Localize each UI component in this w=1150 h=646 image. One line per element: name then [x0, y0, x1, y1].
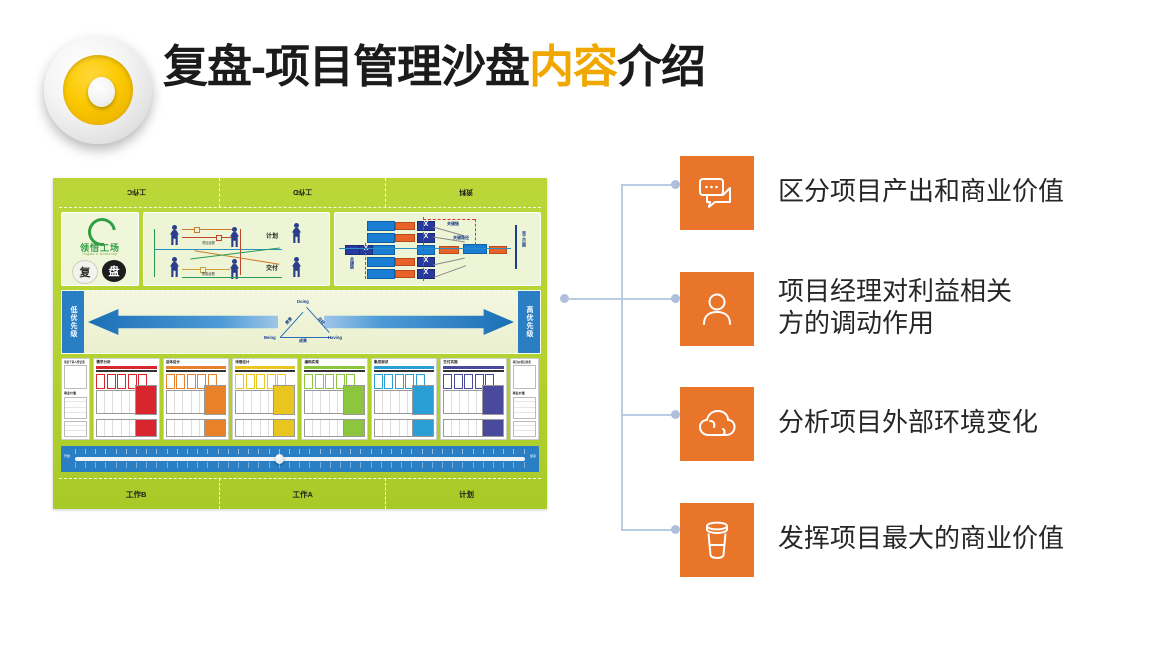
user-icon [680, 272, 754, 346]
board-bottom-label-0: 工作B [126, 489, 146, 500]
network-label-critical-path: 关键路径 [453, 235, 469, 241]
connector-line-spine [621, 184, 623, 530]
cloud-icon [680, 387, 754, 461]
flow-label: 项目经理 [202, 240, 215, 245]
network-node [417, 245, 435, 255]
network-node-x [417, 257, 435, 267]
network-buffer [395, 258, 415, 266]
triangle-edge-goal: 目标 [316, 316, 326, 326]
board-network-panel: 关键链 关键路径 关键链 完工日期 [334, 212, 541, 286]
method-card: 详细设计 [232, 358, 298, 440]
slide-header: 复盘-项目管理沙盘内容介绍 [0, 0, 1150, 150]
board-bottom-label-row: 工作B 工作A 计划 [53, 479, 547, 509]
logo-inner-dot [88, 77, 115, 107]
side-card-title: 项目价值记录表 [513, 360, 531, 364]
board-bottom-label-2: 计划 [459, 489, 474, 500]
chip-pan: 盘 [102, 260, 126, 282]
sandbox-board-image: 工作C 工作D 资料 领悟工场 lingwu-u workshop 复 盘 项目… [53, 178, 547, 509]
network-buffer [395, 222, 415, 230]
method-card-row: 项目干系人登记表 商业价值 需求分析 总体设计 详细设计 [61, 358, 539, 440]
method-card-title: 编码实现 [304, 360, 318, 365]
content-item-1[interactable]: 项目经理对利益相关 方的调动作用 [680, 272, 1012, 346]
network-link [433, 258, 465, 266]
network-node-x [417, 233, 435, 243]
method-card-title: 详细设计 [235, 360, 249, 365]
content-item-label: 区分项目产出和商业价值 [778, 177, 1064, 209]
side-card-left: 项目干系人登记表 商业价值 [61, 358, 90, 440]
speech-bubble-icon [680, 156, 754, 230]
method-card: 交付实施 [440, 358, 506, 440]
method-card: 需求分析 [93, 358, 159, 440]
content-item-0[interactable]: 区分项目产出和商业价值 [680, 156, 1064, 230]
flow-arrow [182, 277, 282, 278]
network-chain-line [423, 217, 424, 281]
network-label-finish-date: 完工日期 [521, 231, 527, 247]
method-card: 集成测试 [371, 358, 437, 440]
workshop-subtitle: lingwu-u workshop [62, 252, 138, 256]
side-card-title: 项目干系人登记表 [64, 360, 85, 364]
title-highlight: 内容 [529, 41, 617, 92]
network-chain-line [365, 243, 366, 279]
flow-arrow [182, 269, 230, 270]
connector-dot-1 [671, 294, 680, 303]
method-card-title: 交付实施 [443, 360, 457, 365]
connector-dot-0 [671, 180, 680, 189]
triangle-edge-result: 成果 [299, 338, 307, 344]
arrow-left [88, 309, 278, 335]
network-label-chain-2: 关键链 [349, 257, 355, 269]
flow-node [194, 227, 200, 233]
network-buffer [395, 270, 415, 278]
content-item-3[interactable]: 发挥项目最大的商业价值 [680, 503, 1064, 577]
side-card-section: 商业价值 [513, 391, 525, 395]
board-vdivider-2 [385, 178, 386, 207]
person-figure [230, 259, 239, 279]
board-vdivider-1 [219, 178, 220, 207]
title-tail: 介绍 [617, 41, 705, 92]
flow-arrow [182, 237, 232, 238]
network-node [367, 269, 395, 279]
method-card: 总体设计 [163, 358, 229, 440]
triangle-label-having: Having [328, 335, 342, 340]
ruler-label-end: 结束 [530, 454, 536, 458]
flow-arrow [154, 229, 155, 277]
flow-label: 职能经理 [202, 271, 215, 276]
method-card-title: 总体设计 [166, 360, 180, 365]
board-top-label-row: 工作C 工作D 资料 [53, 178, 547, 206]
side-card-right: 项目价值记录表 商业价值 [510, 358, 539, 440]
stake-label-plan: 计划 [266, 231, 278, 240]
network-node-x [417, 221, 435, 231]
network-node [367, 233, 395, 243]
being-doing-having-triangle: Doing Being Having 愿景 目标 成果 [275, 299, 339, 345]
flow-node [216, 235, 222, 241]
connector-line-branch-0 [621, 184, 676, 186]
page-title: 复盘-项目管理沙盘内容介绍 [163, 44, 705, 89]
connector-line-branch-1 [621, 298, 676, 300]
board-stakeholder-panel: 项目经理 职能经理 计划 交付 [143, 212, 330, 286]
ruler-label-start: 开始 [64, 454, 70, 458]
ruler-track [75, 457, 525, 461]
content-item-label: 项目经理对利益相关 方的调动作用 [778, 277, 1012, 340]
method-card-title: 需求分析 [96, 360, 110, 365]
network-end-bar [515, 225, 517, 269]
network-node-x [359, 245, 373, 255]
timeline-ruler[interactable]: 开始 结束 [61, 446, 539, 472]
side-card-section: 商业价值 [64, 391, 76, 395]
title-main: 复盘-项目管理沙盘 [163, 41, 529, 92]
connector-line-root [567, 298, 622, 300]
board-logo-panel: 领悟工场 lingwu-u workshop 复 盘 [61, 212, 139, 286]
content-item-label: 分析项目外部环境变化 [778, 408, 1038, 440]
decorative-logo-badge [44, 36, 152, 144]
network-label-chain: 关键链 [447, 221, 459, 227]
board-top-label-0: 工作C [127, 187, 146, 197]
network-node [463, 244, 487, 254]
content-item-2[interactable]: 分析项目外部环境变化 [680, 387, 1038, 461]
connector-line-branch-2 [621, 414, 676, 416]
ruler-ticks-bottom [75, 462, 525, 468]
flow-arrow [182, 229, 232, 230]
triangle-label-being: Being [264, 335, 276, 340]
content-item-label: 发挥项目最大的商业价值 [778, 524, 1064, 556]
stake-label-deliver: 交付 [266, 263, 278, 272]
person-figure [170, 257, 179, 277]
network-node [367, 257, 395, 267]
network-node [367, 221, 395, 231]
cup-icon [680, 503, 754, 577]
person-figure [292, 223, 301, 243]
priority-band: 低优先级 高优先级 Doing Being Having 愿景 目标 成果 [61, 290, 541, 354]
method-card-title: 集成测试 [374, 360, 388, 365]
ruler-ticks-top [75, 449, 525, 454]
board-bottom-label-1: 工作A [292, 489, 312, 500]
method-card: 编码实现 [301, 358, 367, 440]
network-chain-line [423, 219, 475, 220]
chip-fu: 复 [72, 260, 98, 284]
network-node-x [417, 269, 435, 279]
priority-tab-low: 低优先级 [62, 291, 84, 353]
connector-dot-2 [671, 410, 680, 419]
board-top-label-1: 工作D [293, 187, 312, 197]
connector-bracket [560, 160, 690, 560]
network-buffer [395, 234, 415, 242]
logo-gold-ring [63, 55, 133, 125]
connector-line-branch-3 [621, 529, 676, 531]
board-top-label-2: 资料 [459, 187, 473, 197]
board-divider-top [59, 207, 541, 208]
priority-tab-high: 高优先级 [518, 291, 540, 353]
person-figure [170, 225, 179, 245]
network-chain-line [475, 219, 476, 245]
triangle-label-doing: Doing [297, 299, 309, 304]
person-figure [292, 257, 301, 277]
network-link [434, 265, 466, 278]
connector-dot-3 [671, 525, 680, 534]
arrow-right [324, 309, 514, 335]
